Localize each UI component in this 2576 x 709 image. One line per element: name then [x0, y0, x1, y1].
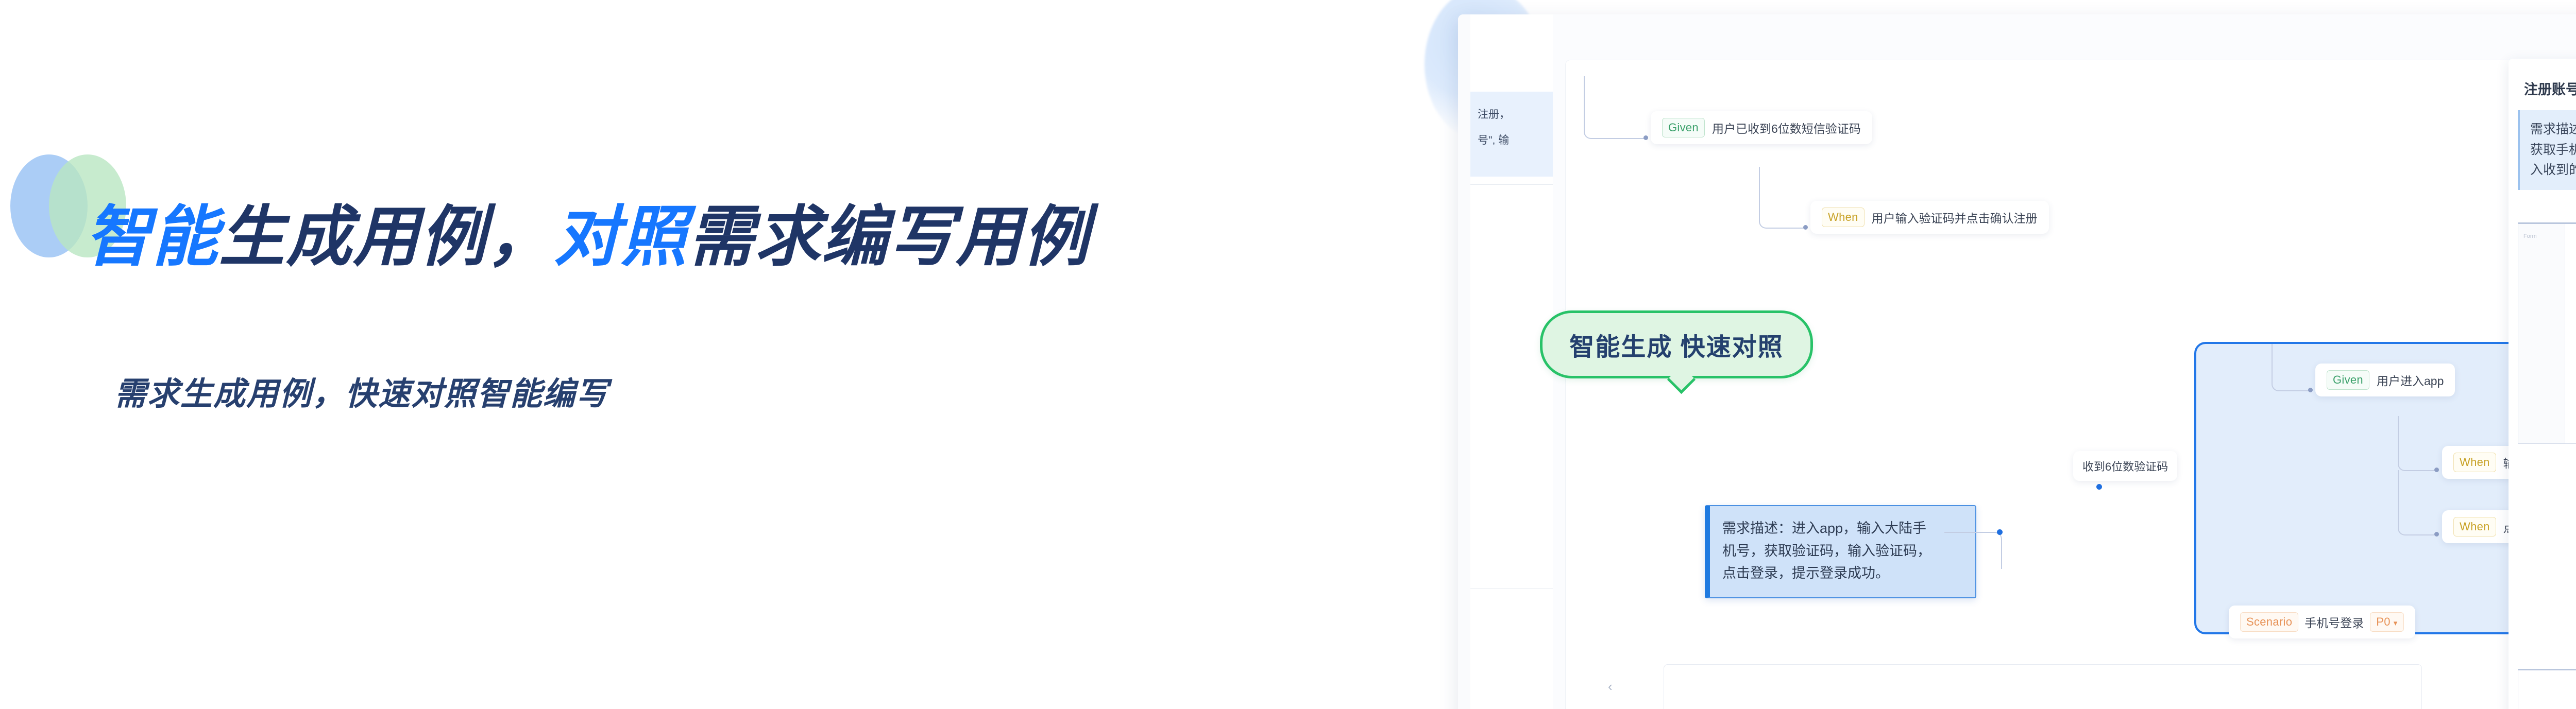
page-title-base-2: 需求编写用例: [688, 200, 1090, 274]
connector-dot-tooltip: [1997, 529, 2003, 535]
node-text: 用户已收到6位数短信验证码: [1712, 119, 1861, 136]
priority-badge[interactable]: P0▾: [2370, 612, 2403, 632]
detail-req-line-2: 获取手机号并自动填写账号，获取验证码: [2530, 140, 2576, 161]
mini-form-mockup: Form First name* Enter your first name L…: [2518, 222, 2576, 444]
connector-dot-subflow-given: [2308, 388, 2313, 392]
detail-requirement-block: 需求描述：进入app后，确认授权手机号 获取手机号并自动填写账号，获取验证码 入…: [2518, 110, 2576, 190]
connector-dot-received-code: [2096, 484, 2102, 490]
connector-subflow-when2: [2398, 470, 2437, 535]
tag-when: When: [2453, 453, 2496, 472]
callout-bubble-label: 智能生成 快速对照: [1569, 326, 1783, 362]
tag-scenario: Scenario: [2240, 612, 2298, 632]
requirement-line-2: 机号，获取验证码，输入验证码，: [1722, 540, 1962, 563]
callout-bubble: 智能生成 快速对照: [1540, 310, 1813, 378]
detail-pane-title: 注册账号: [2524, 78, 2576, 98]
app-window: 注册， 号", 输 Given 用户已收到6位数短信验证码: [1458, 14, 2576, 709]
tag-given: Given: [1662, 118, 1705, 137]
requirement-detail-pane: 注册账号 需求描述：进入app后，确认授权手机号 获取手机号并自动填写账号，获取…: [2509, 59, 2576, 709]
node-given-subflow[interactable]: Given 用户进入app: [2315, 364, 2455, 396]
product-screenshot: 注册， 号", 输 Given 用户已收到6位数短信验证码: [1422, 0, 2576, 709]
node-scenario[interactable]: Scenario 手机号登录 P0▾: [2229, 606, 2415, 638]
tag-when: When: [2453, 517, 2496, 537]
node-text: 收到6位数验证码: [2082, 458, 2168, 474]
tree-divider-bottom: [1470, 589, 1553, 589]
tag-given: Given: [2327, 370, 2369, 390]
node-text: 用户进入app: [2377, 371, 2444, 389]
connector-tooltip-to-node: [1944, 532, 2002, 569]
node-when-top[interactable]: When 用户输入验证码并点击确认注册: [1810, 201, 2049, 234]
tree-item-line-1: 注册，: [1478, 106, 1510, 122]
page-title-accent-1: 智能: [85, 200, 219, 274]
requirement-tree-column: 注册， 号", 输: [1470, 14, 1553, 709]
page-title-accent-2: 对照: [554, 200, 688, 274]
tag-when: When: [1822, 207, 1865, 227]
requirement-line-1: 需求描述：进入app，输入大陆手: [1722, 517, 1962, 540]
connector-dot-given: [1643, 135, 1648, 140]
node-text: 用户输入验证码并点击确认注册: [1872, 209, 2038, 226]
connector-root-to-given: [1584, 76, 1647, 139]
priority-value: P0: [2376, 615, 2391, 628]
hero-section: 智能生成用例，对照需求编写用例 需求生成用例，快速对照智能编写: [0, 0, 1391, 709]
page-subtitle: 需求生成用例，快速对照智能编写: [114, 368, 609, 414]
detail-req-line-3: 入收到的6位数短信验证码，确认注册。: [2530, 160, 2576, 181]
tree-item-line-2: 号", 输: [1478, 132, 1509, 147]
detail-req-line-1: 需求描述：进入app后，确认授权手机号: [2530, 119, 2576, 140]
requirement-description-tooltip: 需求描述：进入app，输入大陆手 机号，获取验证码，输入验证码， 点击登录，提示…: [1705, 505, 1976, 598]
connector-subflow-given: [2272, 344, 2311, 391]
app-left-rail: [1458, 14, 1471, 709]
page-title: 智能生成用例，对照需求编写用例: [85, 196, 1090, 279]
connector-given-to-when: [1759, 167, 1806, 229]
scenario-name: 手机号登录: [2304, 613, 2364, 631]
connector-subflow-when1: [2398, 416, 2437, 471]
node-received-code[interactable]: 收到6位数验证码: [2073, 451, 2177, 481]
page-root: 智能生成用例，对照需求编写用例 需求生成用例，快速对照智能编写 注册， 号", …: [0, 0, 2576, 709]
requirement-line-3: 点击登录，提示登录成功。: [1722, 562, 1962, 585]
mindmap-canvas[interactable]: Given 用户已收到6位数短信验证码 When 用户输入验证码并点击确认注册 …: [1553, 14, 2576, 709]
page-title-base-1: 生成用例，: [219, 200, 554, 274]
chevron-left-icon[interactable]: ‹: [1608, 679, 1613, 695]
mini-form-side-caption: Form: [2523, 233, 2537, 239]
tree-divider-mid: [1470, 184, 1553, 185]
chevron-down-icon: ▾: [2394, 619, 2398, 628]
node-given-top[interactable]: Given 用户已收到6位数短信验证码: [1651, 111, 1872, 144]
connector-dot-when: [1803, 225, 1808, 230]
connector-dot-subflow-when2: [2434, 532, 2439, 537]
tree-item-selected[interactable]: 注册， 号", 输: [1470, 92, 1553, 177]
mini-form-mockup-secondary: [2518, 669, 2576, 709]
bottom-partial-card: [1664, 664, 2422, 709]
mini-form-sidebar: Form: [2518, 224, 2565, 443]
